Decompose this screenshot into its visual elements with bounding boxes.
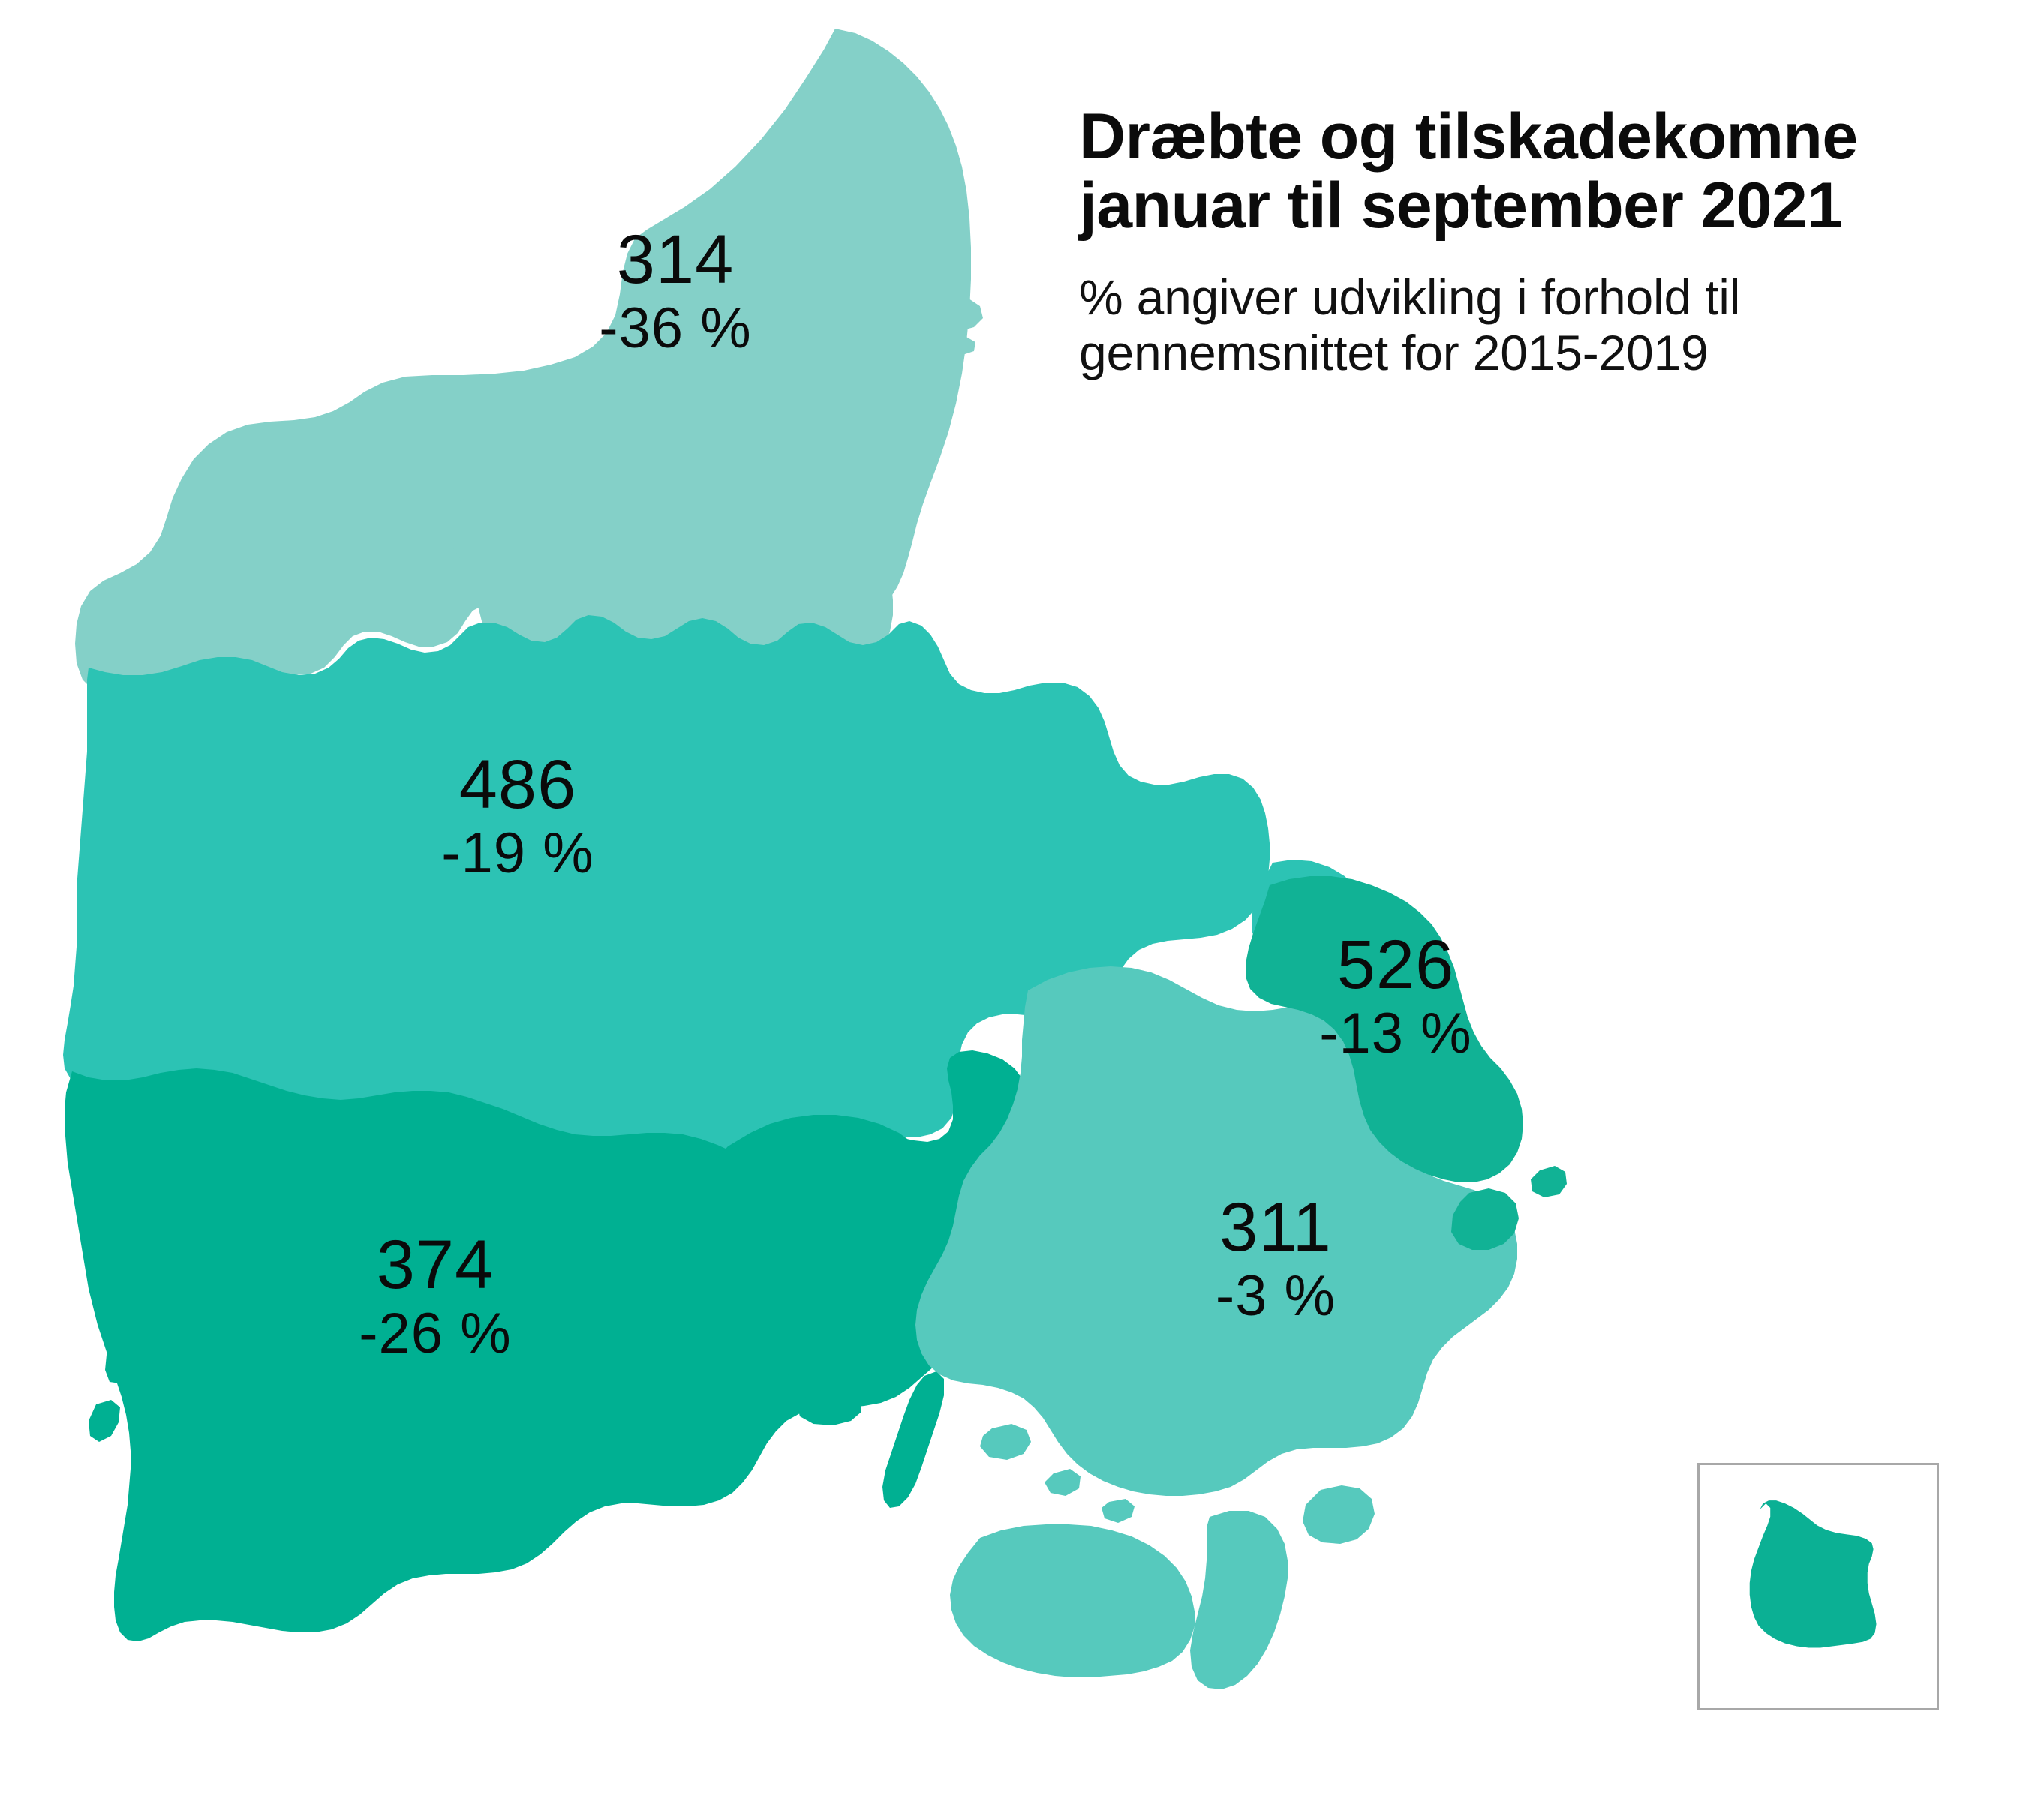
denmark-casualty-map: Dræbte og tilskadekomne januar til septe… (0, 0, 2023, 1820)
title-block: Dræbte og tilskadekomne januar til septe… (1079, 102, 1972, 381)
page-subtitle: % angiver udvikling i forhold til gennem… (1079, 270, 1972, 381)
page-title: Dræbte og tilskadekomne januar til septe… (1079, 102, 1972, 240)
bornholm-shape (1750, 1500, 1877, 1647)
bornholm-inset-svg (1700, 1465, 1937, 1708)
bornholm-inset-box (1697, 1463, 1939, 1710)
